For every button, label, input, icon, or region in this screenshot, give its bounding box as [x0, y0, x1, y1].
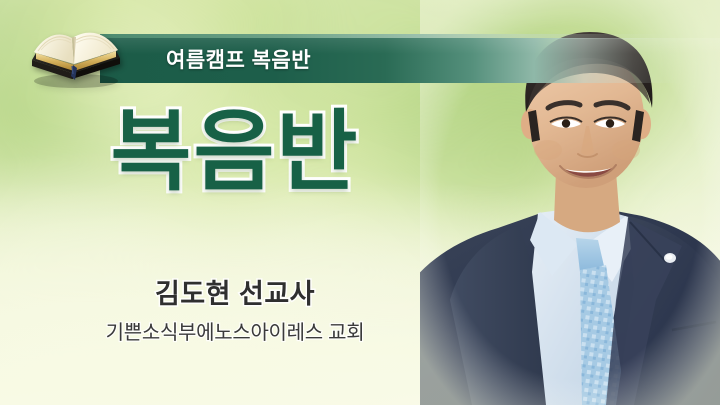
ribbon-title-text: 여름캠프 복음반 — [166, 44, 311, 74]
speaker-church: 기쁜소식부에노스아이레스 교회 — [0, 316, 470, 345]
speaker-name: 김도현 선교사 — [0, 272, 470, 311]
open-bible-icon — [28, 24, 124, 90]
slide-canvas: 여름캠프 복음반 — [0, 0, 720, 405]
page-title: 복음반 — [0, 108, 470, 196]
